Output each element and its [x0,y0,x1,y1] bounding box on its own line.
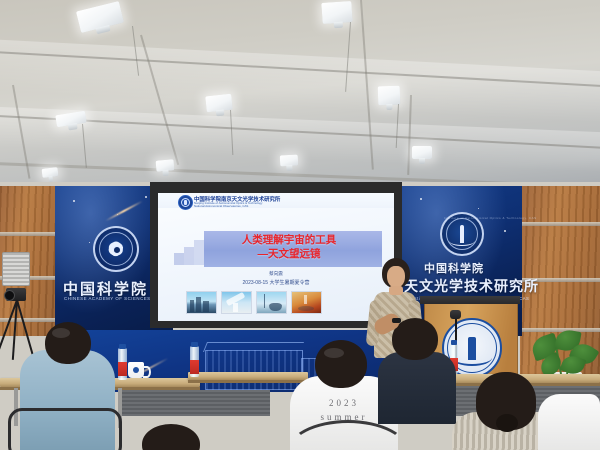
chair [8,408,122,450]
star [145,196,147,198]
backdrop-right-cn-main: 天文光学技术研究所 [404,276,539,296]
ceiling-light [378,86,401,106]
emblem-core [113,246,121,254]
slide-title-line2: —天文望远镜 [194,248,384,261]
thumb-radio-antenna [256,291,287,314]
ceiling-light [76,1,124,33]
bottle-cap [451,340,457,345]
bottle-cap [119,344,126,349]
desk-edge [188,380,308,383]
bottle-label [190,360,199,374]
ceiling [0,0,600,186]
ceiling-light [156,159,175,172]
star [504,230,506,232]
presentation-slide: 中国科学院南京天文光学技术研究所 Nanjing Institute of As… [158,193,394,321]
wristwatch-icon [392,318,401,323]
led-light-panel [2,252,30,286]
wall-trim-strip [520,328,600,332]
hair-bun [496,414,518,432]
desk-modesty-panel [120,390,270,416]
naoc-emblem-icon: Institute of Astronomical Optics & Techn… [440,212,484,256]
ceiling-light [42,167,59,178]
attendee-head [315,340,367,388]
speaker-face [387,266,405,288]
star [478,208,479,209]
cas-flower-emblem-icon [93,226,139,272]
microphone-head-icon [450,310,461,319]
desk [188,372,308,380]
hair-highlight [324,348,344,358]
slide-author: 蔡向震 [158,271,394,277]
emblem-arc-text: Institute of Astronomical Optics & Techn… [444,216,537,220]
wall-trim-strip [0,232,58,236]
star [420,198,422,200]
backdrop-left-en: CHINESE ACADEMY OF SCIENCES [64,296,151,301]
speaker-neck [389,286,403,295]
hair-highlight [52,328,70,338]
building-line-art [205,350,303,390]
backdrop-right-cn-top: 中国科学院 [424,260,484,276]
thumb-telescope [221,291,252,314]
comet-icon [105,200,143,221]
star [73,200,75,202]
lecture-hall-photo: 中国科学院 CHINESE ACADEMY OF SCIENCES Instit… [0,0,600,450]
star [89,242,90,243]
thumb-mars-terrain [291,291,322,314]
mug-logo-icon [133,367,139,373]
wall-trim-strip [520,222,600,226]
ceiling-light [205,94,233,113]
mug-handle [143,366,151,378]
attendee-head [45,322,91,364]
attendee-white-top [538,394,600,450]
slide-header-en2: National Astronomical Observatories, CAS [194,204,248,208]
building-line-art [203,342,304,352]
slide-title-line1: 人类理解宇宙的工具 [194,234,384,247]
ceiling-light [412,146,432,159]
ceiling-light [321,1,352,24]
slide-thumbnail-row [186,291,322,314]
attendee-navy-polo [378,352,456,424]
projector-screen: 中国科学院南京天文光学技术研究所 Nanjing Institute of As… [158,193,394,321]
bottle-cap [191,342,198,347]
podium-top-surface [420,296,520,304]
observatory-emblem-icon [178,195,193,210]
bottle-label [118,362,127,376]
camera-lens-icon [4,290,15,301]
slide-date: 2023-08-15 大学生暑期夏令营 [158,279,394,286]
ceiling-light [280,155,299,167]
thumb-observatory-city [186,291,217,314]
